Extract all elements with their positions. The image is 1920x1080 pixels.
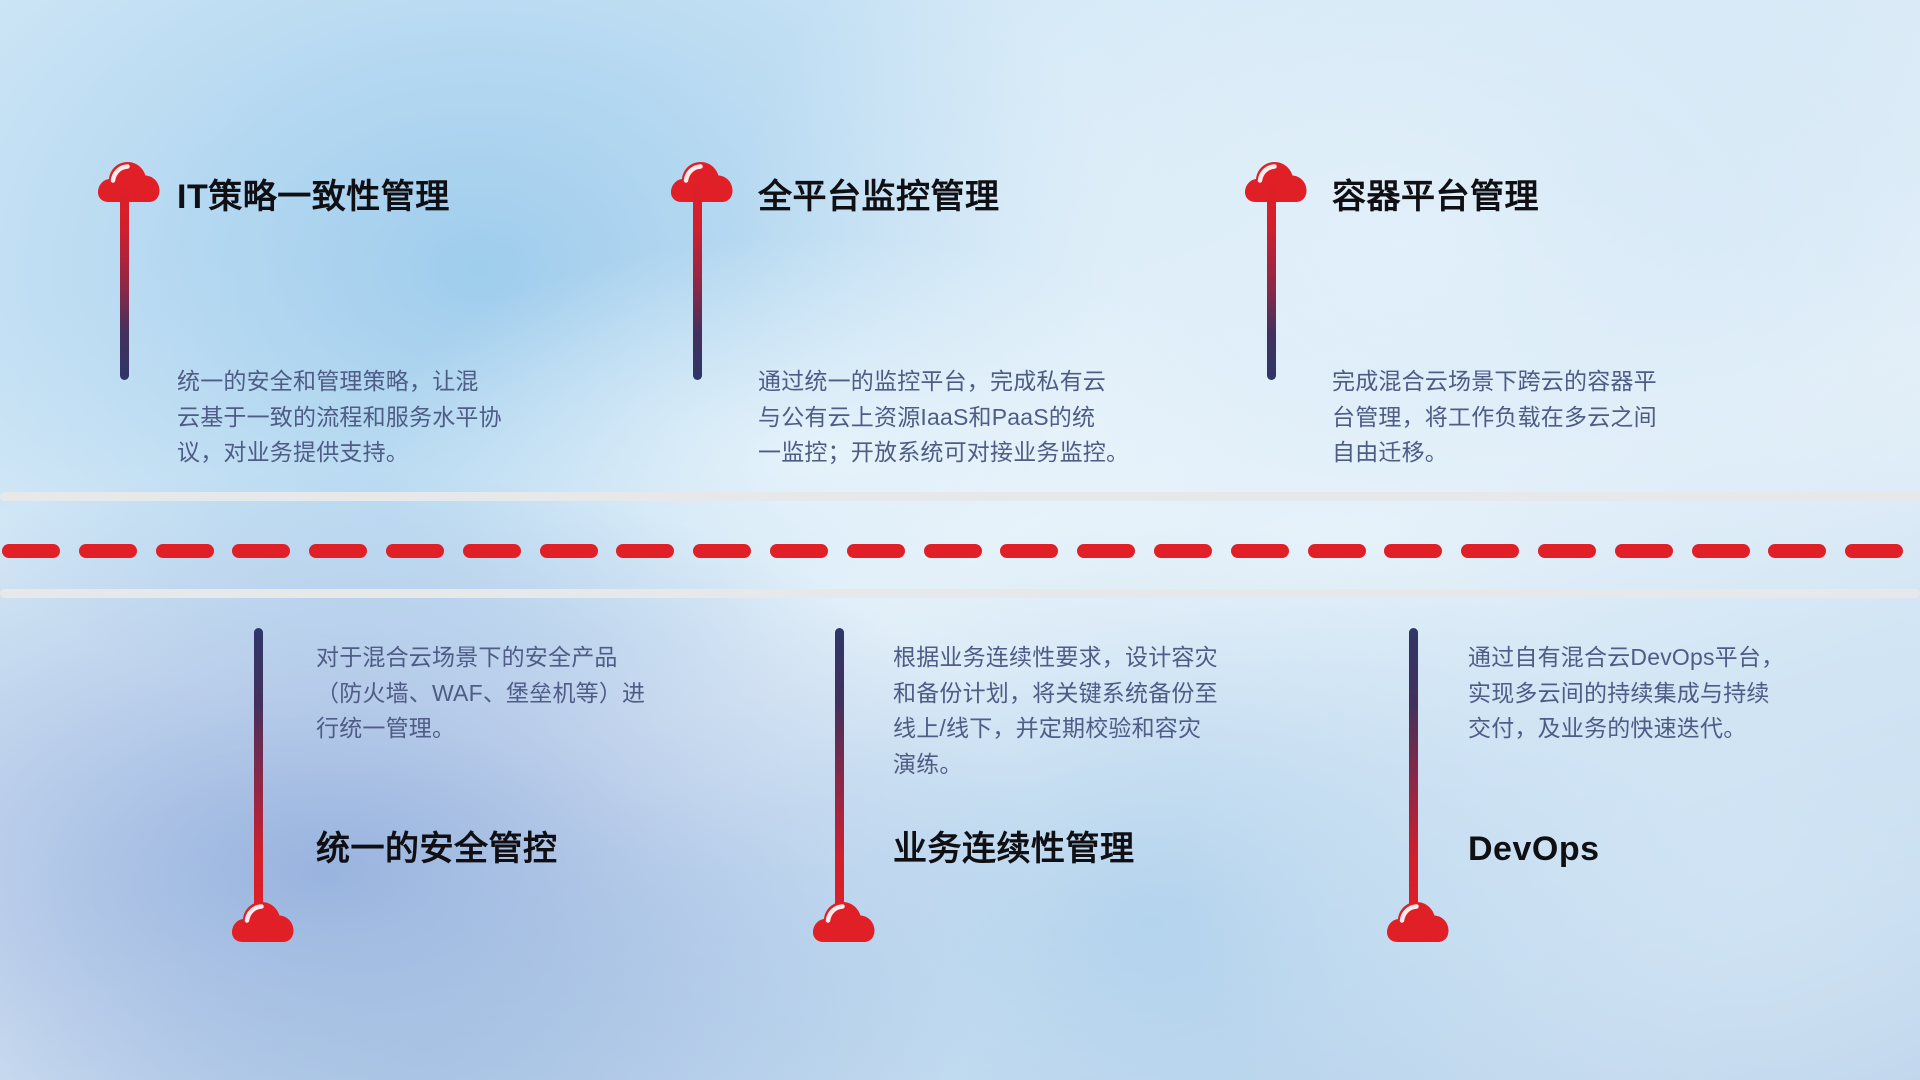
dash-segment (309, 544, 367, 558)
dash-segment (770, 544, 828, 558)
cloud-icon (1385, 898, 1451, 948)
dash-segment (1077, 544, 1135, 558)
column-body-text: 统一的安全和管理策略，让混 云基于一致的流程和服务水平协 议，对业务提供支持。 (177, 364, 617, 471)
dash-segment (1154, 544, 1212, 558)
body-line: 交付，及业务的快速迭代。 (1468, 711, 1898, 747)
column-body-text: 对于混合云场景下的安全产品 （防火墙、WAF、堡垒机等）进 行统一管理。 (316, 640, 746, 747)
connector-line (835, 628, 844, 918)
body-line: 一监控；开放系统可对接业务监控。 (758, 435, 1208, 471)
dash-segment (1538, 544, 1596, 558)
column-heading: 业务连续性管理 (893, 832, 1135, 866)
dash-segment (924, 544, 982, 558)
dash-segment (1000, 544, 1058, 558)
body-line: 线上/线下，并定期校验和容灾 (893, 711, 1333, 747)
dash-segment (156, 544, 214, 558)
dash-segment (1692, 544, 1750, 558)
body-line: 行统一管理。 (316, 711, 746, 747)
dash-segment (1231, 544, 1289, 558)
body-line: 通过自有混合云DevOps平台， (1468, 640, 1898, 676)
infographic-canvas: IT策略一致性管理 统一的安全和管理策略，让混 云基于一致的流程和服务水平协 议… (0, 0, 1920, 1080)
body-line: 台管理，将工作负载在多云之间 (1332, 400, 1772, 436)
body-line: 实现多云间的持续集成与持续 (1468, 676, 1898, 712)
dash-segment (2, 544, 60, 558)
connector-line (1409, 628, 1418, 918)
cloud-icon (96, 158, 162, 208)
dash-segment (540, 544, 598, 558)
dash-segment (1615, 544, 1673, 558)
body-line: 演练。 (893, 747, 1333, 783)
column-heading: DevOps (1468, 832, 1600, 866)
dash-segment (1461, 544, 1519, 558)
body-line: 议，对业务提供支持。 (177, 435, 617, 471)
body-line: 通过统一的监控平台，完成私有云 (758, 364, 1208, 400)
dash-segment (693, 544, 751, 558)
cloud-icon (811, 898, 877, 948)
dash-segment (232, 544, 290, 558)
dash-segment (616, 544, 674, 558)
column-body-text: 根据业务连续性要求，设计容灾 和备份计划，将关键系统备份至 线上/线下，并定期校… (893, 640, 1333, 783)
body-line: 完成混合云场景下跨云的容器平 (1332, 364, 1772, 400)
column-body-text: 通过统一的监控平台，完成私有云 与公有云上资源IaaS和PaaS的统 一监控；开… (758, 364, 1208, 471)
dash-segment (847, 544, 905, 558)
dash-segment (463, 544, 521, 558)
cloud-icon (1243, 158, 1309, 208)
column-heading: IT策略一致性管理 (177, 180, 450, 214)
connector-line (120, 184, 129, 380)
body-line: 自由迁移。 (1332, 435, 1772, 471)
column-heading: 容器平台管理 (1332, 180, 1539, 214)
red-dashed-line (0, 544, 1920, 558)
body-line: 根据业务连续性要求，设计容灾 (893, 640, 1333, 676)
dash-segment (1768, 544, 1826, 558)
cloud-icon (230, 898, 296, 948)
column-body-text: 完成混合云场景下跨云的容器平 台管理，将工作负载在多云之间 自由迁移。 (1332, 364, 1772, 471)
dash-segment (79, 544, 137, 558)
column-heading: 统一的安全管控 (316, 832, 558, 866)
body-line: 和备份计划，将关键系统备份至 (893, 676, 1333, 712)
connector-line (693, 184, 702, 380)
dash-segment (1384, 544, 1442, 558)
body-line: 云基于一致的流程和服务水平协 (177, 400, 617, 436)
connector-line (254, 628, 263, 918)
connector-line (1267, 184, 1276, 380)
dash-segment (1308, 544, 1366, 558)
white-rail-top (0, 492, 1920, 501)
body-line: 统一的安全和管理策略，让混 (177, 364, 617, 400)
column-body-text: 通过自有混合云DevOps平台， 实现多云间的持续集成与持续 交付，及业务的快速… (1468, 640, 1898, 747)
white-rail-bottom (0, 589, 1920, 598)
body-line: （防火墙、WAF、堡垒机等）进 (316, 676, 746, 712)
body-line: 与公有云上资源IaaS和PaaS的统 (758, 400, 1208, 436)
cloud-icon (669, 158, 735, 208)
column-heading: 全平台监控管理 (758, 180, 1000, 214)
body-line: 对于混合云场景下的安全产品 (316, 640, 746, 676)
dash-segment (1845, 544, 1903, 558)
dash-segment (386, 544, 444, 558)
